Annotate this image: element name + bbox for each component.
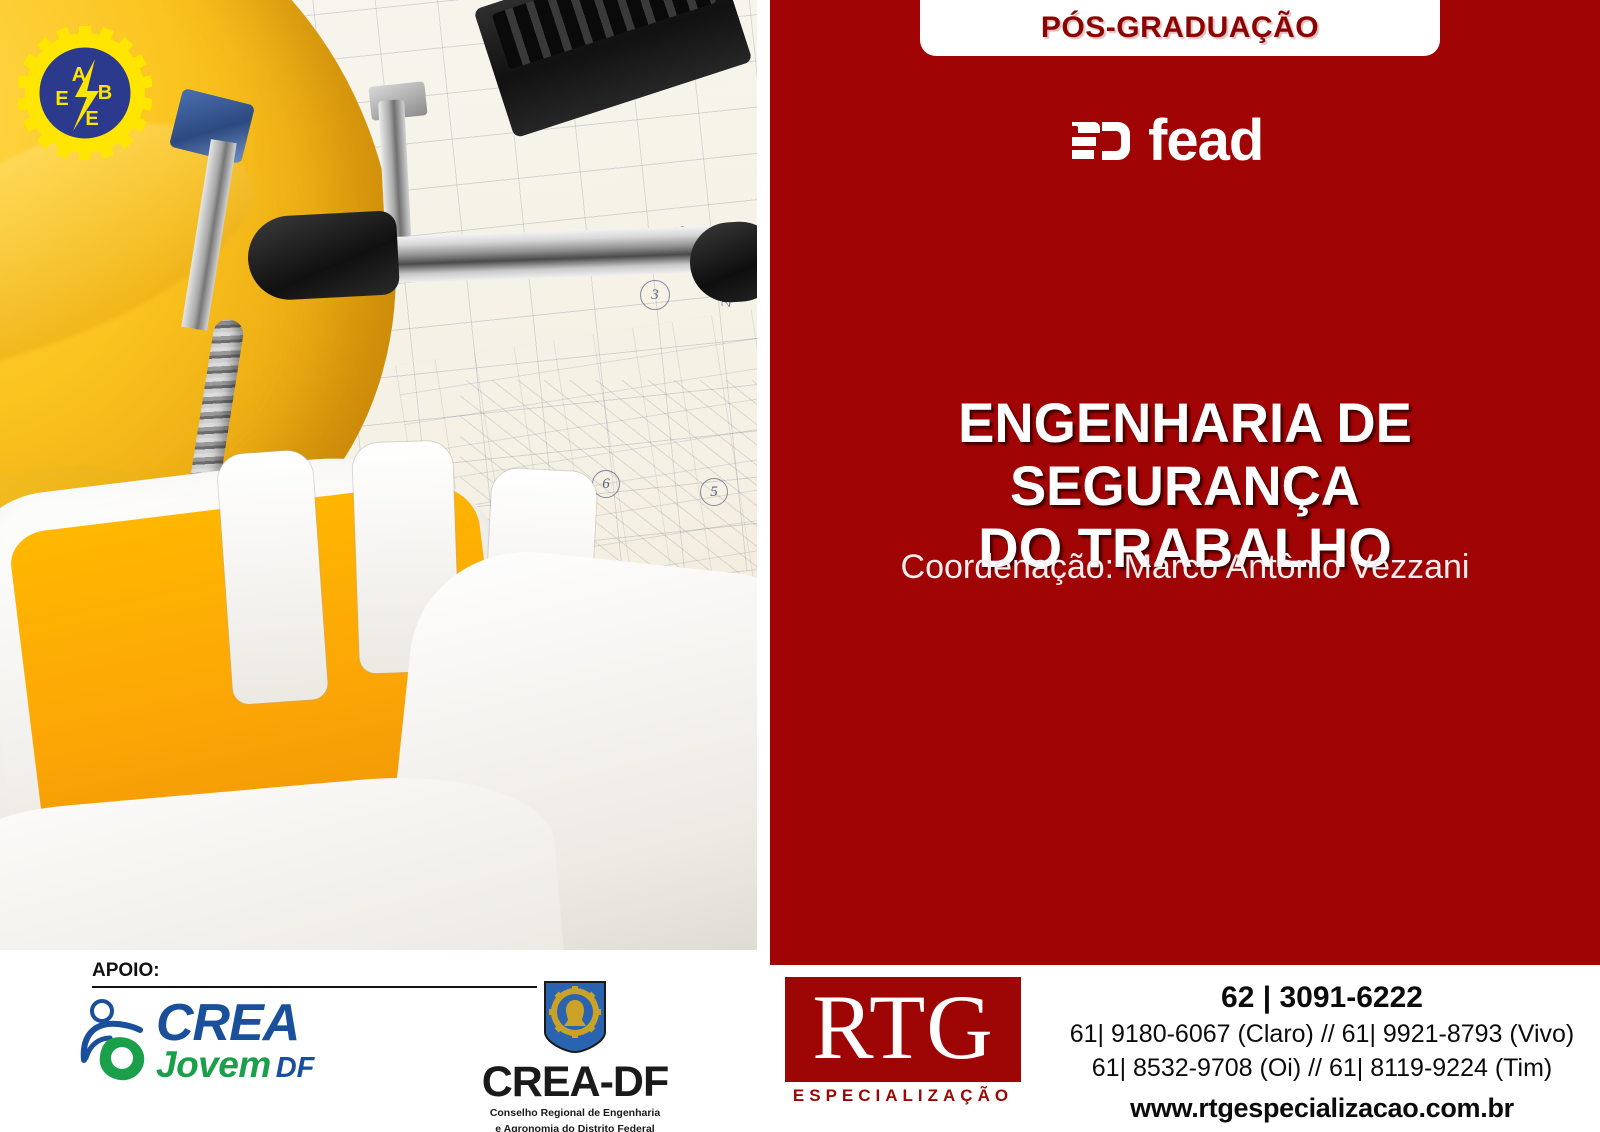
- crea-df-subtitle-line2: e Agronomia do Distrito Federal: [455, 1123, 695, 1132]
- fead-wordmark: fead: [1148, 112, 1263, 170]
- abee-letter-e2: E: [85, 108, 98, 130]
- crea-jovem-df-logo: CREA Jovem DF: [78, 998, 314, 1084]
- flyer-root: 3 2 1 6 5 7 1720 2080 800x600: [0, 0, 1600, 1132]
- website-url[interactable]: www.rtgespecializacao.com.br: [1057, 1093, 1587, 1124]
- course-title-line-1: ENGENHARIA DE SEGURANÇA: [782, 392, 1587, 517]
- apoio-label: APOIO:: [92, 960, 160, 982]
- rtg-logo-box: RTG: [785, 977, 1021, 1082]
- banner-label: PÓS-GRADUAÇÃO: [1041, 11, 1319, 45]
- primary-phone: 62 | 3091-6222: [1057, 981, 1587, 1015]
- clamp-grip-left: [246, 210, 400, 302]
- rtg-subtitle: ESPECIALIZAÇÃO: [785, 1086, 1021, 1106]
- fead-logo: fead: [1070, 112, 1263, 170]
- rtg-logo: RTG ESPECIALIZAÇÃO: [785, 977, 1035, 1106]
- crea-df-wordmark: CREA-DF: [455, 1061, 695, 1104]
- crea-jovem-figure-icon: [78, 998, 150, 1084]
- rtg-letters: RTG: [812, 981, 993, 1073]
- crea-jovem-crea-text: CREA: [156, 1000, 314, 1048]
- blueprint-mark-3: 3: [640, 280, 670, 310]
- abee-gear-icon: A B E E: [18, 26, 152, 160]
- pos-graduacao-banner: PÓS-GRADUAÇÃO: [920, 0, 1440, 56]
- footer-contact-section: RTG ESPECIALIZAÇÃO 62 | 3091-6222 61| 91…: [757, 965, 1600, 1132]
- coordination-line: Coordenação: Marco Antônio Vezzani: [770, 548, 1600, 587]
- crea-df-shield-icon: [542, 980, 608, 1054]
- blueprint-mark-5: 5: [700, 478, 728, 506]
- contact-details: 62 | 3091-6222 61| 9180-6067 (Claro) // …: [1057, 981, 1587, 1124]
- crea-df-subtitle-line1: Conselho Regional de Engenharia: [455, 1107, 695, 1120]
- engineering-safety-photo: 3 2 1 6 5 7 1720 2080 800x600: [0, 0, 757, 950]
- abee-letter-b: B: [98, 82, 112, 104]
- apoio-section: APOIO: CREA Jovem DF: [0, 950, 757, 1132]
- crea-jovem-jovem-text: Jovem: [156, 1048, 271, 1082]
- abee-letter-e1: E: [55, 88, 68, 110]
- mobile-phones-line-2: 61| 8532-9708 (Oi) // 61| 8119-9224 (Tim…: [1057, 1054, 1587, 1083]
- fead-bracket-icon: [1070, 118, 1132, 164]
- crea-df-logo: CREA-DF Conselho Regional de Engenharia …: [455, 980, 695, 1132]
- glove-finger-1: [216, 449, 328, 705]
- mobile-phones-line-1: 61| 9180-6067 (Claro) // 61| 9921-8793 (…: [1057, 1020, 1587, 1049]
- crea-jovem-df-text: DF: [276, 1055, 315, 1082]
